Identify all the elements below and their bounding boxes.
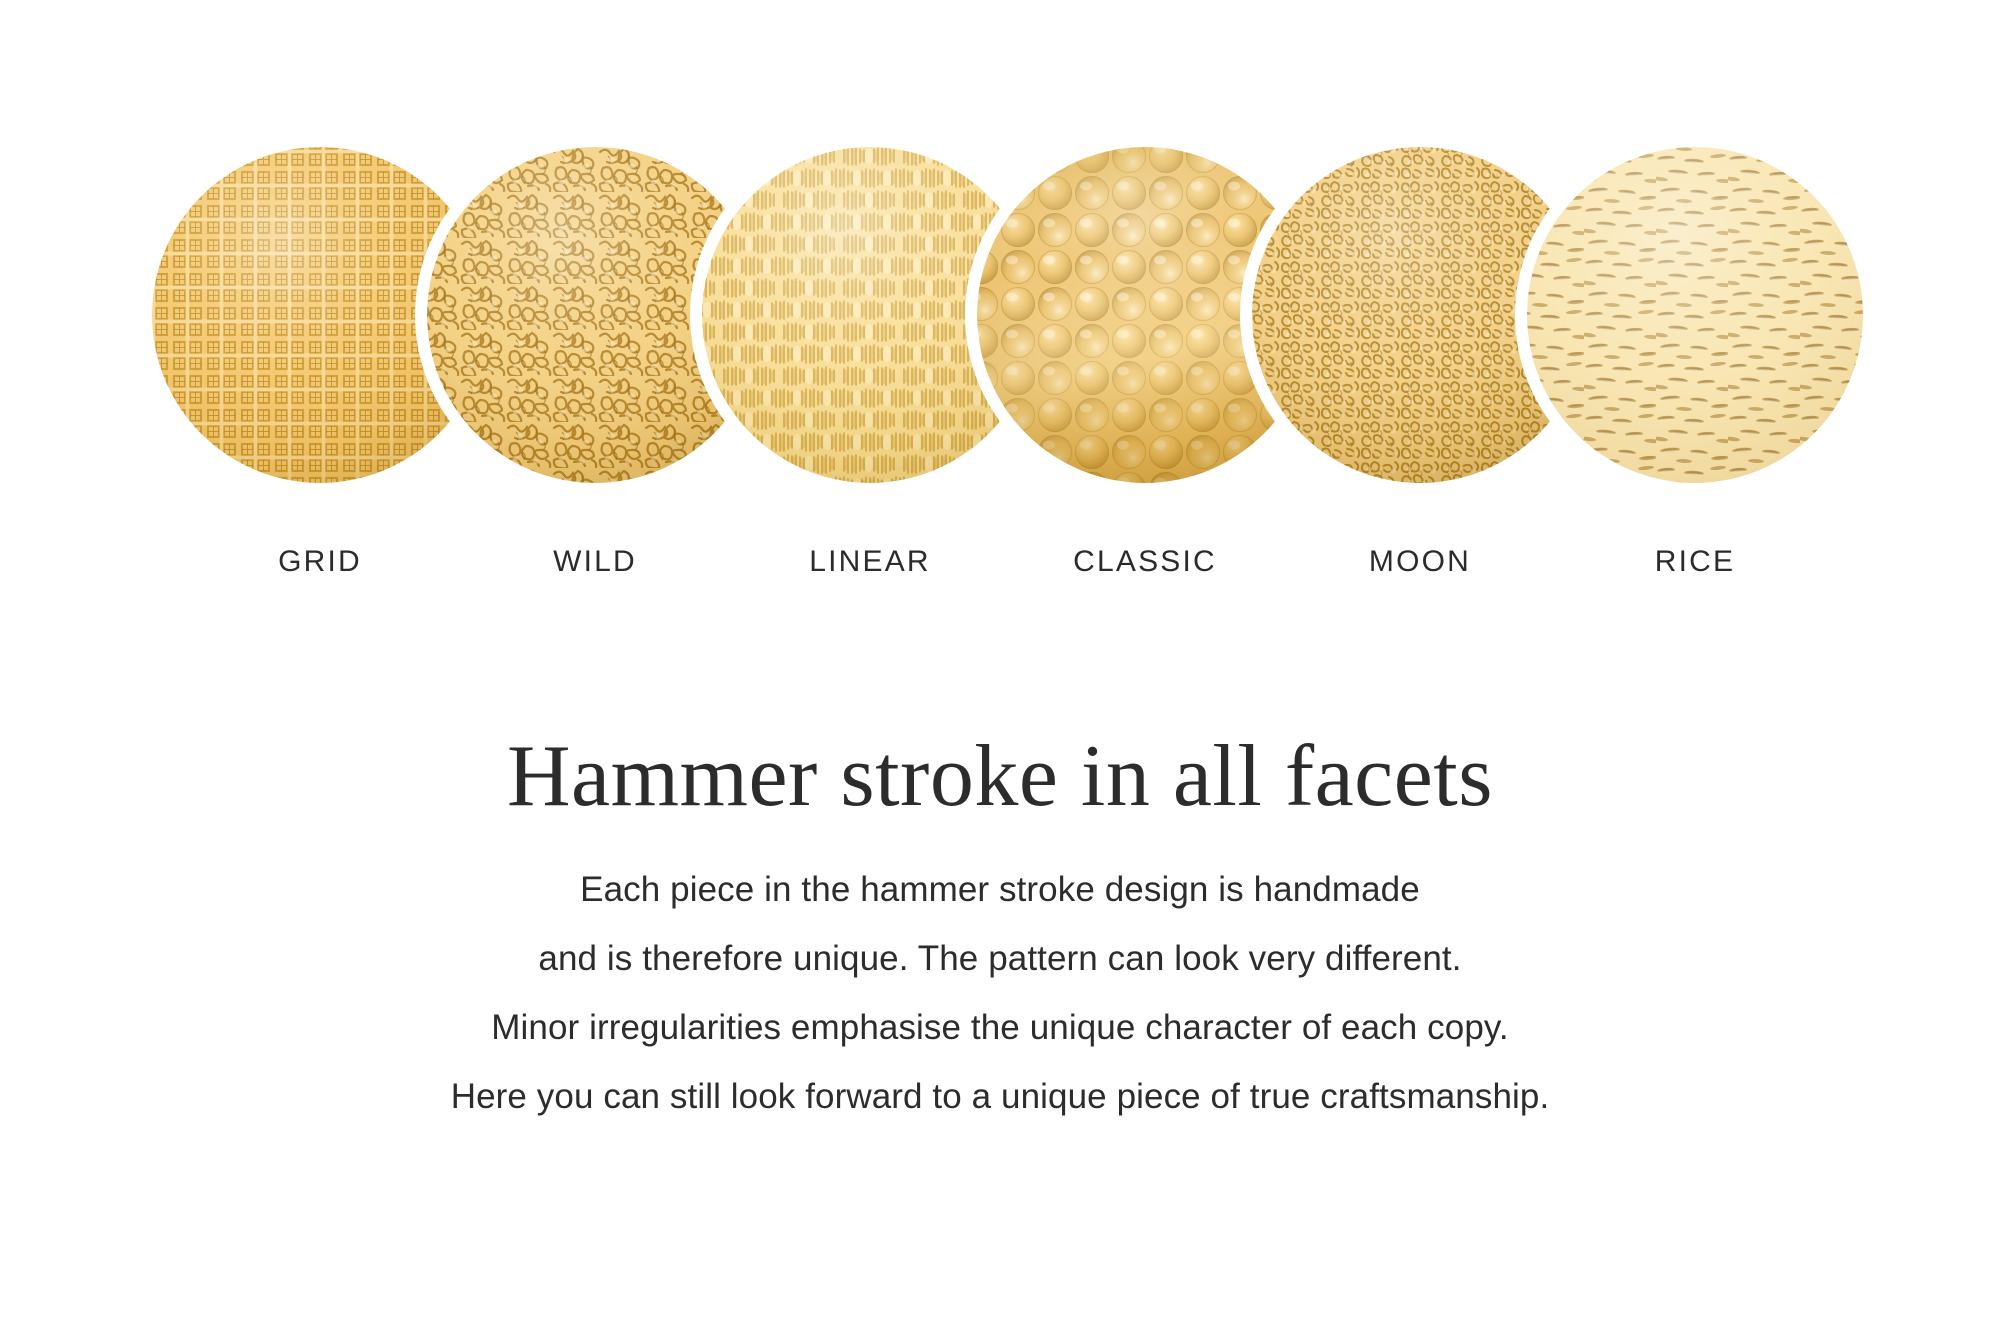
- body-line-4: Here you can still look forward to a uni…: [0, 1062, 2000, 1131]
- page-title: Hammer stroke in all facets: [0, 731, 2000, 823]
- texture-swatch-row: [0, 100, 2000, 530]
- swatch-label-linear: LINEAR: [720, 545, 1020, 579]
- body-line-1: Each piece in the hammer stroke design i…: [0, 855, 2000, 924]
- swatch-label-wild: WILD: [445, 545, 745, 579]
- body-line-3: Minor irregularities emphasise the uniqu…: [0, 993, 2000, 1062]
- promo-panel: GRID WILD LINEAR CLASSIC MOON RICE Hamme…: [0, 0, 2000, 1334]
- swatch-label-grid: GRID: [170, 545, 470, 579]
- swatch-label-rice: RICE: [1545, 545, 1845, 579]
- body-line-2: and is therefore unique. The pattern can…: [0, 924, 2000, 993]
- swatch-label-row: GRID WILD LINEAR CLASSIC MOON RICE: [0, 545, 2000, 595]
- swatch-label-classic: CLASSIC: [995, 545, 1295, 579]
- body-copy: Each piece in the hammer stroke design i…: [0, 855, 2000, 1131]
- texture-swatch-graphic: [0, 100, 2000, 530]
- swatch-label-moon: MOON: [1270, 545, 1570, 579]
- swatch-disc-grid: [152, 147, 488, 483]
